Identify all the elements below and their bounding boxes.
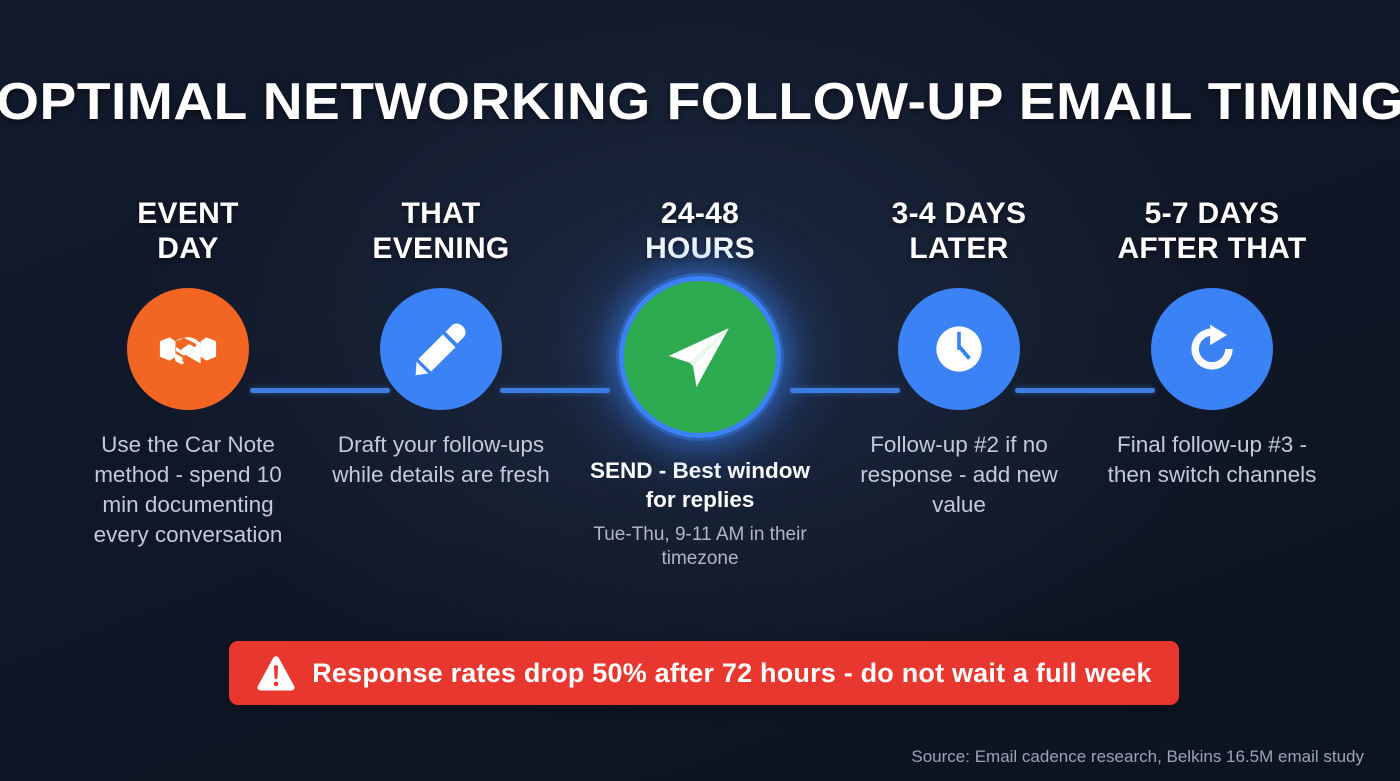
step-label-5-7-days-after: 5-7 DAYS AFTER THAT xyxy=(1117,196,1306,270)
step-circle-event-day[interactable] xyxy=(127,288,249,410)
handshake-icon xyxy=(157,318,219,380)
step-description-send: SEND - Best window for replies xyxy=(580,456,820,515)
step-label-line1: EVENT xyxy=(137,197,239,230)
step-label-line1: 3-4 DAYS xyxy=(892,197,1027,230)
step-circle-5-7-days-after[interactable] xyxy=(1151,288,1273,410)
timeline-step-event-day[interactable]: EVENT DAY xyxy=(64,196,312,550)
step-description-that-evening: Draft your follow-ups while details are … xyxy=(326,430,556,490)
refresh-icon xyxy=(1182,319,1242,379)
step-label-event-day: EVENT DAY xyxy=(137,196,239,270)
step-label-24-48-hours: 24-48 HOURS xyxy=(645,196,755,270)
step-icon-wrap xyxy=(898,288,1020,410)
step-icon-wrap xyxy=(1151,288,1273,410)
clock-icon xyxy=(930,320,988,378)
step-description-event-day: Use the Car Note method - spend 10 min d… xyxy=(73,430,303,550)
timeline: EVENT DAY xyxy=(64,196,1336,626)
step-label-line2: DAY xyxy=(157,232,219,265)
warning-text: Response rates drop 50% after 72 hours -… xyxy=(312,658,1152,689)
pencil-icon xyxy=(412,320,470,378)
step-label-line1: THAT xyxy=(402,197,481,230)
step-label-3-4-days-later: 3-4 DAYS LATER xyxy=(892,196,1027,270)
step-circle-send[interactable] xyxy=(619,276,781,438)
step-circle-that-evening[interactable] xyxy=(380,288,502,410)
timeline-step-5-7-days-after[interactable]: 5-7 DAYS AFTER THAT Final follow-up #3 -… xyxy=(1088,196,1336,490)
step-subdescription-send: Tue-Thu, 9-11 AM in their timezone xyxy=(585,523,815,572)
step-label-line2: HOURS xyxy=(645,232,755,265)
step-icon-wrap xyxy=(127,288,249,410)
step-label-line2: EVENING xyxy=(372,232,509,265)
send-paper-plane-icon xyxy=(663,320,737,394)
step-description-5-7-days-after: Final follow-up #3 - then switch channel… xyxy=(1097,430,1327,490)
step-label-that-evening: THAT EVENING xyxy=(372,196,509,270)
timeline-step-that-evening[interactable]: THAT EVENING Draft your follow-ups while… xyxy=(317,196,565,490)
source-citation: Source: Email cadence research, Belkins … xyxy=(911,747,1364,767)
timeline-step-24-48-hours[interactable]: 24-48 HOURS SEND - Best window for repli… xyxy=(570,196,830,572)
infographic-canvas: OPTIMAL NETWORKING FOLLOW-UP EMAIL TIMIN… xyxy=(0,0,1400,781)
step-label-line2: LATER xyxy=(909,232,1008,265)
step-icon-wrap xyxy=(380,288,502,410)
step-circle-3-4-days-later[interactable] xyxy=(898,288,1020,410)
timeline-step-3-4-days-later[interactable]: 3-4 DAYS LATER Follow-up #2 if no respon… xyxy=(835,196,1083,520)
page-title: OPTIMAL NETWORKING FOLLOW-UP EMAIL TIMIN… xyxy=(0,72,1400,132)
step-icon-wrap xyxy=(619,276,781,438)
warning-triangle-icon xyxy=(256,654,296,692)
warning-banner: Response rates drop 50% after 72 hours -… xyxy=(229,641,1179,705)
step-label-line1: 24-48 xyxy=(661,197,739,230)
step-description-3-4-days-later: Follow-up #2 if no response - add new va… xyxy=(844,430,1074,520)
step-label-line2: AFTER THAT xyxy=(1117,232,1306,265)
step-label-line1: 5-7 DAYS xyxy=(1145,197,1280,230)
